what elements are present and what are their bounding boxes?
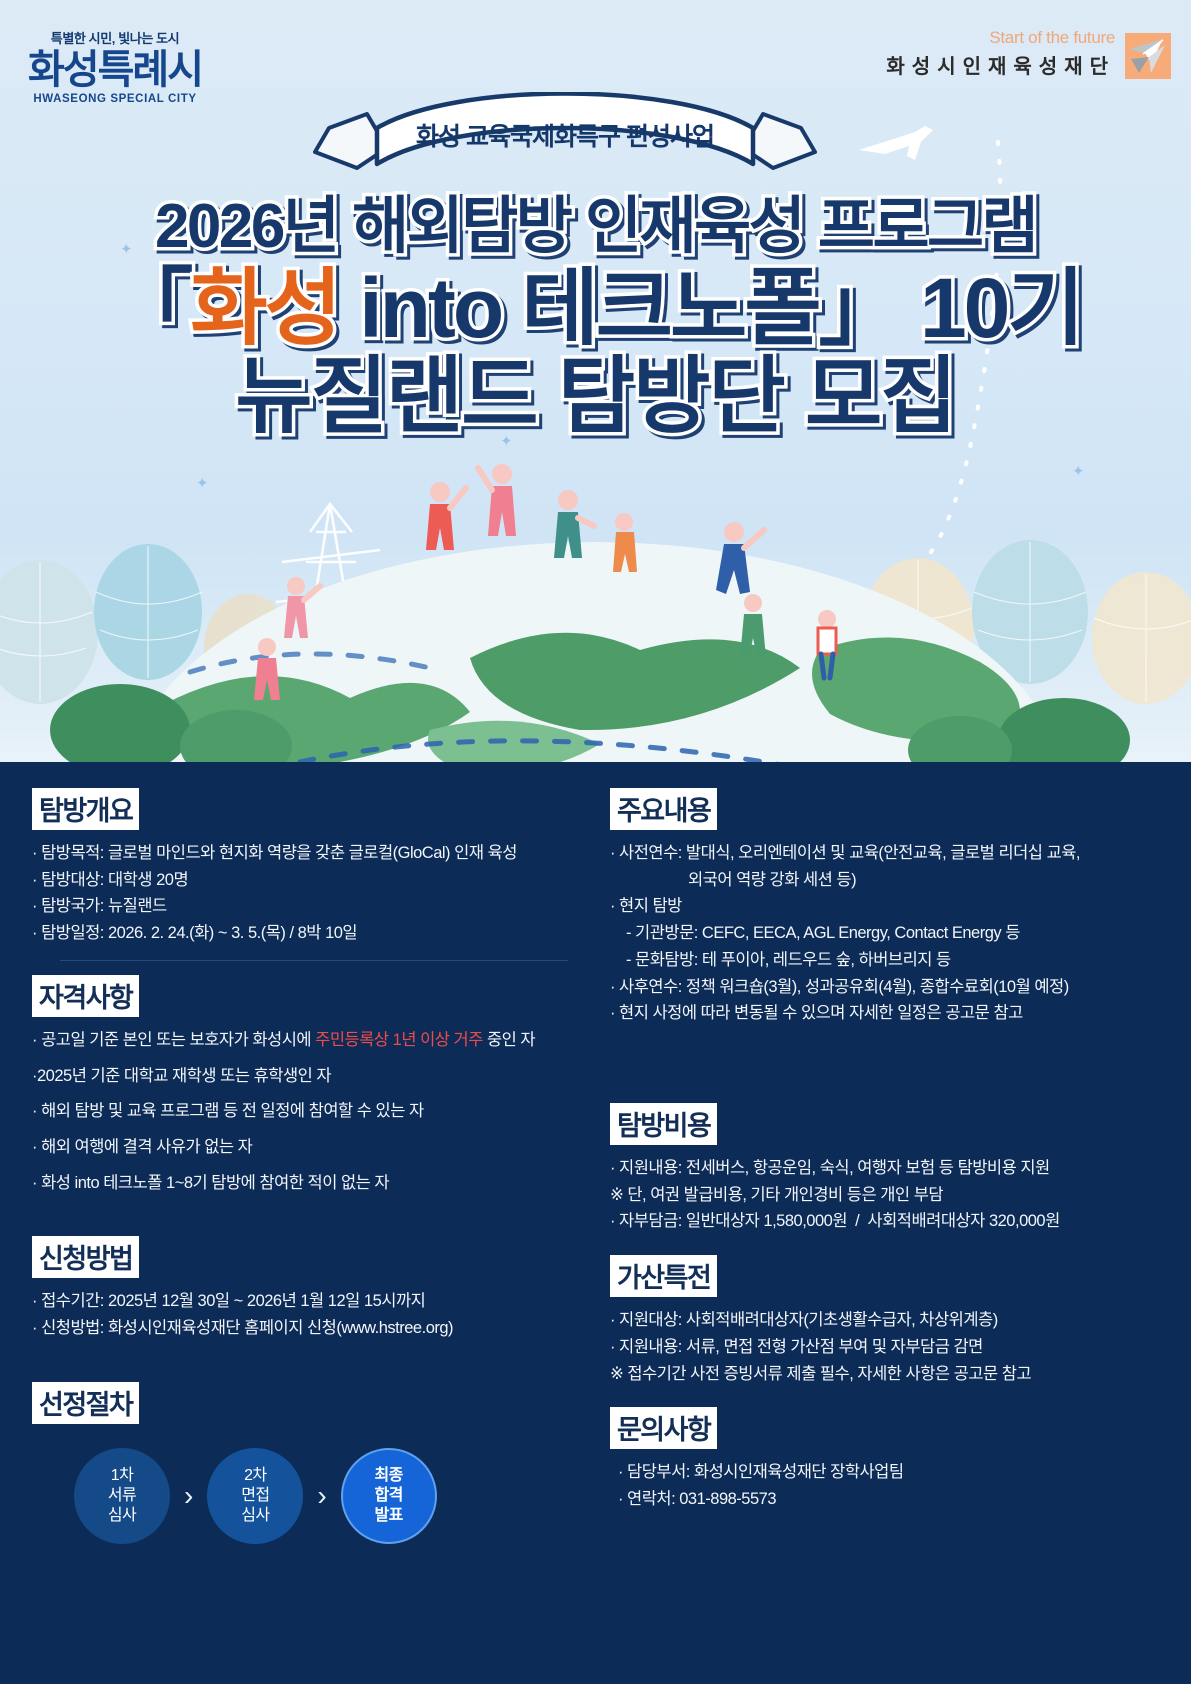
title-bracket-open: 「 [109, 261, 190, 355]
qual-item1-post: 중인 자 [483, 1031, 535, 1049]
ribbon-banner: 화성 교육국제화특구 편성사업 [305, 92, 825, 197]
qual-item1-highlight: 주민등록상 1년 이상 거주 [315, 1031, 483, 1049]
list-item: · 현지 탐방 [610, 893, 1171, 920]
foundation-logo: Start of the future 화성시인재육성재단 [886, 28, 1171, 79]
section-heading-content: 주요내용 [610, 788, 717, 830]
spacer [610, 1241, 1171, 1255]
section-heading-apply: 신청방법 [32, 1236, 139, 1278]
spacer [32, 1348, 596, 1382]
list-item: ·2025년 기준 대학교 재학생 또는 휴학생인 자 [32, 1063, 596, 1090]
list-item: · 사전연수: 발대식, 오리엔테이션 및 교육(안전교육, 글로벌 리더십 교… [610, 840, 1171, 867]
list-item: - 기관방문: CEFC, EECA, AGL Energy, Contact … [610, 920, 1171, 947]
section-heading-contact: 문의사항 [610, 1407, 717, 1449]
list-item: · 접수기간: 2025년 12월 30일 ~ 2026년 1월 12일 15시… [32, 1288, 596, 1315]
bonus-list: · 지원대상: 사회적배려대상자(기초생활수급자, 차상위계층) · 지원내용:… [610, 1307, 1171, 1387]
sparkle-icon: ✦ [120, 240, 133, 258]
cost-list: · 지원내용: 전세버스, 항공운임, 숙식, 여행자 보험 등 탐방비용 지원… [610, 1155, 1171, 1235]
scenery-illustration [0, 462, 1191, 762]
content-note: · 현지 사정에 따라 변동될 수 있으며 자세한 일정은 공고문 참고 [610, 1000, 1171, 1027]
step-1-line-3: 심사 [108, 1506, 136, 1526]
apply-list: · 접수기간: 2025년 12월 30일 ~ 2026년 1월 12일 15시… [32, 1288, 596, 1341]
info-panel: 탐방개요 · 탐방목적: 글로벌 마인드와 현지화 역량을 갖춘 글로컬(Glo… [0, 762, 1191, 1684]
section-overview: 탐방개요 · 탐방목적: 글로벌 마인드와 현지화 역량을 갖춘 글로컬(Glo… [32, 788, 596, 947]
city-romanized: HWASEONG SPECIAL CITY [28, 93, 202, 105]
qual-item1-pre: · 공고일 기준 본인 또는 보호자가 화성시에 [32, 1031, 315, 1049]
list-item: · 화성 into 테크노폴 1~8기 탐방에 참여한 적이 없는 자 [32, 1170, 596, 1197]
foundation-tagline: Start of the future [886, 28, 1115, 48]
list-item: · 사후연수: 정책 워크숍(3월), 성과공유회(4월), 종합수료회(10월… [610, 974, 1171, 1001]
chevron-right-icon: › [178, 1480, 199, 1512]
section-contact: 문의사항 · 담당부서: 화성시인재육성재단 장학사업팀 · 연락처: 031-… [610, 1407, 1171, 1512]
city-wordmark: 화성특례시 [28, 49, 202, 92]
section-heading-cost: 탐방비용 [610, 1103, 717, 1145]
list-item: · 탐방국가: 뉴질랜드 [32, 893, 596, 920]
list-item: · 연락처: 031-898-5573 [610, 1486, 1171, 1513]
section-heading-bonus: 가산특전 [610, 1255, 717, 1297]
qualification-list: · 공고일 기준 본인 또는 보호자가 화성시에 주민등록상 1년 이상 거주 … [32, 1027, 596, 1197]
selection-step-2: 2차 면접 심사 [207, 1448, 303, 1544]
paper-plane-icon [1125, 33, 1171, 79]
content-list: · 사전연수: 발대식, 오리엔테이션 및 교육(안전교육, 글로벌 리더십 교… [610, 840, 1171, 1027]
section-heading-qualification: 자격사항 [32, 975, 139, 1017]
list-item: · 해외 여행에 결격 사유가 없는 자 [32, 1134, 596, 1161]
list-item: · 지원내용: 전세버스, 항공운임, 숙식, 여행자 보험 등 탐방비용 지원 [610, 1155, 1171, 1182]
list-item: · 탐방목적: 글로벌 마인드와 현지화 역량을 갖춘 글로컬(GloCal) … [32, 840, 596, 867]
city-wordmark-text: 화성특례시 [28, 48, 202, 92]
divider [60, 960, 568, 961]
section-heading-overview: 탐방개요 [32, 788, 139, 830]
step-1-line-1: 1차 [111, 1466, 133, 1486]
section-selection: 선정절차 1차 서류 심사 › 2차 면접 심사 › 최종 합격 발표 [32, 1382, 596, 1544]
section-heading-selection: 선정절차 [32, 1382, 139, 1424]
list-item: · 지원대상: 사회적배려대상자(기초생활수급자, 차상위계층) [610, 1307, 1171, 1334]
list-item: · 자부담금: 일반대상자 1,580,000원 / 사회적배려대상자 320,… [610, 1208, 1171, 1235]
title-line-1: 2026년 해외탐방 인재육성 프로그램 [0, 196, 1191, 258]
hero-banner: 특별한 시민, 빛나는 도시 화성특례시 HWASEONG SPECIAL CI… [0, 0, 1191, 762]
step-3-line-3: 발표 [375, 1506, 403, 1526]
left-column: 탐방개요 · 탐방목적: 글로벌 마인드와 현지화 역량을 갖춘 글로컬(Glo… [20, 788, 596, 1684]
list-item: · 신청방법: 화성시인재육성재단 홈페이지 신청(www.hstree.org… [32, 1315, 596, 1342]
list-item: · 담당부서: 화성시인재육성재단 장학사업팀 [610, 1459, 1171, 1486]
step-2-line-2: 면접 [241, 1486, 269, 1506]
cost-note: ※ 단, 여권 발급비용, 기타 개인경비 등은 개인 부담 [610, 1182, 1171, 1209]
chevron-right-icon: › [311, 1480, 332, 1512]
step-2-line-1: 2차 [244, 1466, 266, 1486]
list-item: - 문화탐방: 테 푸이아, 레드우드 숲, 하버브리지 등 [610, 947, 1171, 974]
section-apply: 신청방법 · 접수기간: 2025년 12월 30일 ~ 2026년 1월 12… [32, 1236, 596, 1341]
title-line-2-rest: into 테크노폴」 10기 [339, 261, 1082, 355]
foundation-name: 화성시인재육성재단 [886, 50, 1115, 79]
list-item: · 해외 탐방 및 교육 프로그램 등 전 일정에 참여할 수 있는 자 [32, 1098, 596, 1125]
section-content: 주요내용 · 사전연수: 발대식, 오리엔테이션 및 교육(안전교육, 글로벌 … [610, 788, 1171, 1027]
sparkle-icon: ✦ [500, 432, 513, 450]
step-1-line-2: 서류 [108, 1486, 136, 1506]
right-column: 주요내용 · 사전연수: 발대식, 오리엔테이션 및 교육(안전교육, 글로벌 … [596, 788, 1171, 1684]
title-highlight-hwaseong: 화성 [190, 261, 339, 355]
selection-step-1: 1차 서류 심사 [74, 1448, 170, 1544]
section-qualification: 자격사항 · 공고일 기준 본인 또는 보호자가 화성시에 주민등록상 1년 이… [32, 975, 596, 1197]
ribbon-text: 화성 교육국제화특구 편성사업 [305, 92, 825, 190]
list-item: 외국어 역량 강화 세션 등) [610, 867, 1171, 894]
city-tagline: 특별한 시민, 빛나는 도시 [28, 28, 202, 47]
title-line-3: 뉴질랜드 탐방단 모집 [0, 354, 1191, 438]
bonus-note: ※ 접수기간 사전 증빙서류 제출 필수, 자세한 사항은 공고문 참고 [610, 1361, 1171, 1388]
list-item: · 지원내용: 서류, 면접 전형 가산점 부여 및 자부담금 감면 [610, 1334, 1171, 1361]
step-3-line-1: 최종 [375, 1466, 403, 1486]
title-line-2: 「화성 into 테크노폴」 10기 [0, 266, 1191, 350]
spacer [610, 1393, 1171, 1407]
spacer [32, 1202, 596, 1236]
step-2-line-3: 심사 [241, 1506, 269, 1526]
list-item: · 탐방일정: 2026. 2. 24.(화) ~ 3. 5.(목) / 8박 … [32, 920, 596, 947]
section-bonus: 가산특전 · 지원대상: 사회적배려대상자(기초생활수급자, 차상위계층) · … [610, 1255, 1171, 1387]
selection-step-3: 최종 합격 발표 [341, 1448, 437, 1544]
list-item: · 공고일 기준 본인 또는 보호자가 화성시에 주민등록상 1년 이상 거주 … [32, 1027, 596, 1054]
spacer [610, 1033, 1171, 1103]
step-3-line-2: 합격 [375, 1486, 403, 1506]
overview-list: · 탐방목적: 글로벌 마인드와 현지화 역량을 갖춘 글로컬(GloCal) … [32, 840, 596, 947]
selection-steps: 1차 서류 심사 › 2차 면접 심사 › 최종 합격 발표 [32, 1448, 596, 1544]
hwaseong-city-logo: 특별한 시민, 빛나는 도시 화성특례시 HWASEONG SPECIAL CI… [28, 28, 202, 105]
poster-title: 2026년 해외탐방 인재육성 프로그램 「화성 into 테크노폴」 10기 … [0, 196, 1191, 438]
section-cost: 탐방비용 · 지원내용: 전세버스, 항공운임, 숙식, 여행자 보험 등 탐방… [610, 1103, 1171, 1235]
list-item: · 탐방대상: 대학생 20명 [32, 867, 596, 894]
contact-list: · 담당부서: 화성시인재육성재단 장학사업팀 · 연락처: 031-898-5… [610, 1459, 1171, 1512]
